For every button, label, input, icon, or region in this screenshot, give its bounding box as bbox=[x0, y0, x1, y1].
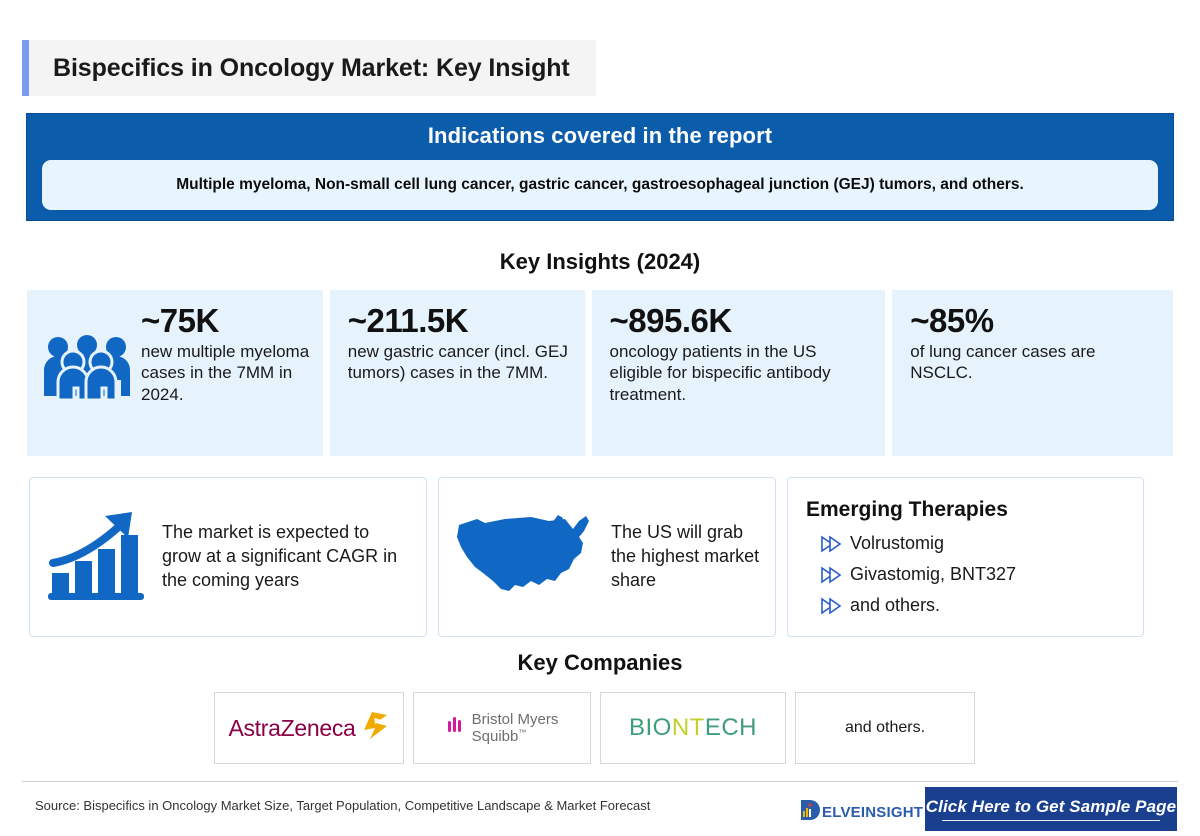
therapy-name: Givastomig, BNT327 bbox=[850, 562, 1016, 587]
us-market-card: The US will grab the highest market shar… bbox=[438, 477, 776, 637]
stat-number: ~75K bbox=[141, 304, 311, 339]
market-growth-card: The market is expected to grow at a sign… bbox=[29, 477, 427, 637]
stat-text: new multiple myeloma cases in the 7MM in… bbox=[141, 341, 311, 406]
stat-number: ~85% bbox=[910, 304, 1161, 339]
delveinsight-logo: ELVEINSIGHT bbox=[800, 798, 923, 827]
indications-banner-box: Multiple myeloma, Non-small cell lung ca… bbox=[42, 160, 1158, 210]
title-accent-bar bbox=[22, 40, 29, 96]
us-market-text: The US will grab the highest market shar… bbox=[595, 521, 765, 593]
bms-trademark: ™ bbox=[518, 728, 526, 737]
delveinsight-d-icon bbox=[800, 798, 822, 827]
and-others-label: and others. bbox=[845, 719, 925, 737]
stat-text: new gastric cancer (incl. GEJ tumors) ca… bbox=[348, 341, 573, 385]
therapy-name: and others. bbox=[850, 593, 940, 618]
astrazeneca-wordmark: AstraZeneca bbox=[228, 715, 355, 742]
logo-astrazeneca: AstraZeneca bbox=[214, 692, 404, 764]
stat-card: ~895.6K oncology patients in the US elig… bbox=[592, 290, 886, 456]
cta-label: Click Here to Get Sample Page bbox=[926, 797, 1176, 817]
indications-banner: Indications covered in the report Multip… bbox=[26, 113, 1174, 221]
stat-card-body: ~85% of lung cancer cases are NSCLC. bbox=[906, 304, 1161, 384]
logo-bristol-myers-squibb: Bristol Myers Squibb™ bbox=[413, 692, 591, 764]
market-growth-text: The market is expected to grow at a sign… bbox=[146, 521, 412, 593]
emerging-therapies-title: Emerging Therapies bbox=[806, 498, 1008, 522]
key-insights-cards: ~75K new multiple myeloma cases in the 7… bbox=[27, 290, 1173, 456]
indications-list: Multiple myeloma, Non-small cell lung ca… bbox=[162, 176, 1038, 194]
stat-text: oncology patients in the US eligible for… bbox=[610, 341, 874, 406]
biontech-part-b: NT bbox=[672, 714, 705, 741]
cta-underline bbox=[942, 820, 1160, 822]
us-map-icon bbox=[453, 507, 595, 608]
footer-source: Source: Bispecifics in Oncology Market S… bbox=[35, 798, 650, 813]
astrazeneca-swirl-icon bbox=[356, 709, 390, 748]
stat-card-body: ~895.6K oncology patients in the US elig… bbox=[606, 304, 874, 406]
stat-number: ~895.6K bbox=[610, 304, 874, 339]
double-chevron-icon bbox=[820, 597, 842, 615]
bms-flame-icon bbox=[446, 714, 466, 743]
stat-card: ~85% of lung cancer cases are NSCLC. bbox=[892, 290, 1173, 456]
indications-banner-title: Indications covered in the report bbox=[27, 114, 1173, 149]
biontech-part-c: ECH bbox=[705, 714, 757, 741]
biontech-wordmark: BIONTECH bbox=[629, 714, 757, 742]
page-title: Bispecifics in Oncology Market: Key Insi… bbox=[29, 54, 570, 83]
bms-line2: Squibb bbox=[472, 728, 519, 745]
people-group-icon bbox=[41, 304, 137, 405]
page-title-bar: Bispecifics in Oncology Market: Key Insi… bbox=[22, 40, 596, 96]
logo-biontech: BIONTECH bbox=[600, 692, 786, 764]
stat-number: ~211.5K bbox=[348, 304, 573, 339]
stat-card-body: ~75K new multiple myeloma cases in the 7… bbox=[137, 304, 311, 406]
double-chevron-icon bbox=[820, 566, 842, 584]
highlights-row: The market is expected to grow at a sign… bbox=[29, 477, 1145, 637]
key-companies-logos: AstraZeneca bbox=[214, 692, 986, 764]
double-chevron-icon bbox=[820, 535, 842, 553]
logo-and-others: and others. bbox=[795, 692, 975, 764]
stat-card: ~211.5K new gastric cancer (incl. GEJ tu… bbox=[330, 290, 585, 456]
bms-wordmark: Bristol Myers Squibb™ bbox=[472, 711, 559, 746]
key-insights-heading: Key Insights (2024) bbox=[0, 249, 1200, 275]
footer-divider bbox=[22, 781, 1178, 782]
bms-line1: Bristol Myers bbox=[472, 711, 559, 728]
key-companies-heading: Key Companies bbox=[0, 650, 1200, 676]
therapy-name: Volrustomig bbox=[850, 531, 944, 556]
bms-lockup: Bristol Myers Squibb™ bbox=[446, 711, 559, 746]
growth-chart-icon bbox=[48, 507, 146, 608]
list-item: Givastomig, BNT327 bbox=[820, 562, 1016, 587]
list-item: Volrustomig bbox=[820, 531, 944, 556]
infographic-page: Bispecifics in Oncology Market: Key Insi… bbox=[0, 0, 1200, 836]
stat-card: ~75K new multiple myeloma cases in the 7… bbox=[27, 290, 323, 456]
stat-card-body: ~211.5K new gastric cancer (incl. GEJ tu… bbox=[344, 304, 573, 384]
stat-text: of lung cancer cases are NSCLC. bbox=[910, 341, 1161, 385]
list-item: and others. bbox=[820, 593, 940, 618]
delveinsight-wordmark: ELVEINSIGHT bbox=[822, 804, 923, 821]
biontech-part-a: BIO bbox=[629, 714, 672, 741]
emerging-therapies-card: Emerging Therapies Volrustomig bbox=[787, 477, 1144, 637]
get-sample-page-button[interactable]: Click Here to Get Sample Page bbox=[925, 787, 1177, 831]
